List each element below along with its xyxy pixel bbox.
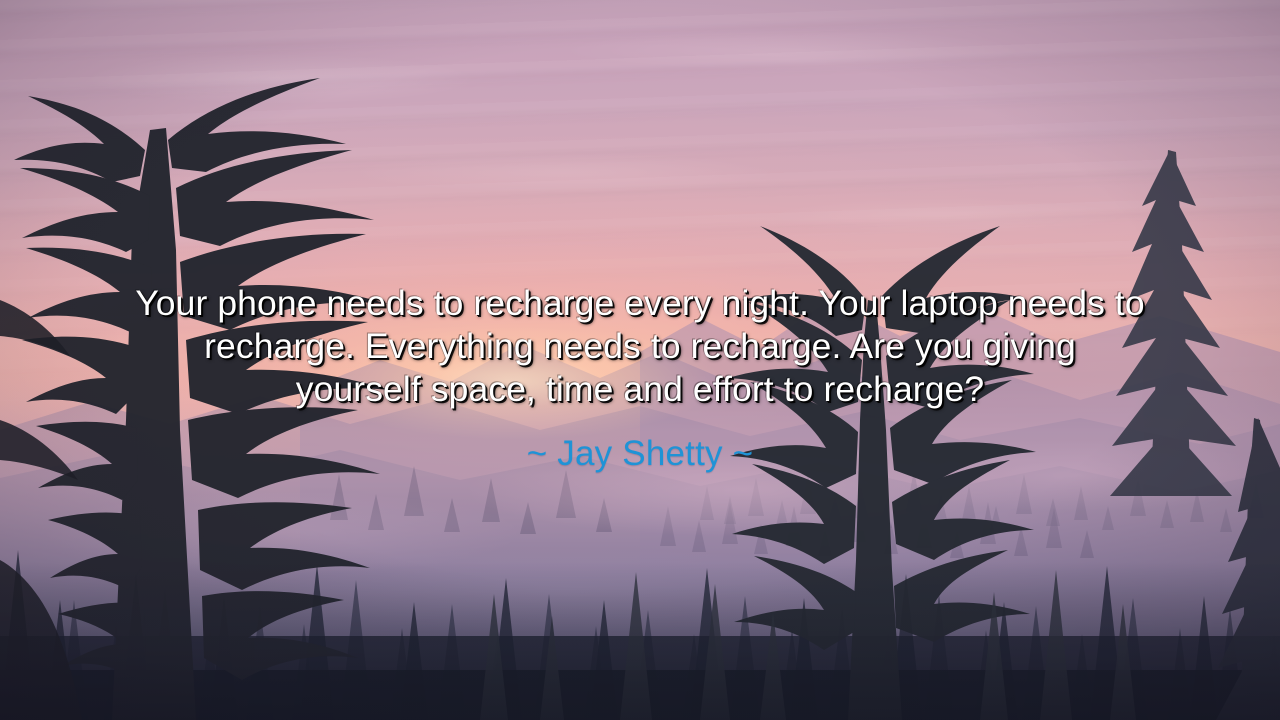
quote-attribution: ~ Jay Shetty ~ <box>58 433 1222 474</box>
quote-overlay: Your phone needs to recharge every night… <box>0 282 1280 474</box>
wallpaper-canvas: Your phone needs to recharge every night… <box>0 0 1280 720</box>
quote-text: Your phone needs to recharge every night… <box>58 282 1222 411</box>
